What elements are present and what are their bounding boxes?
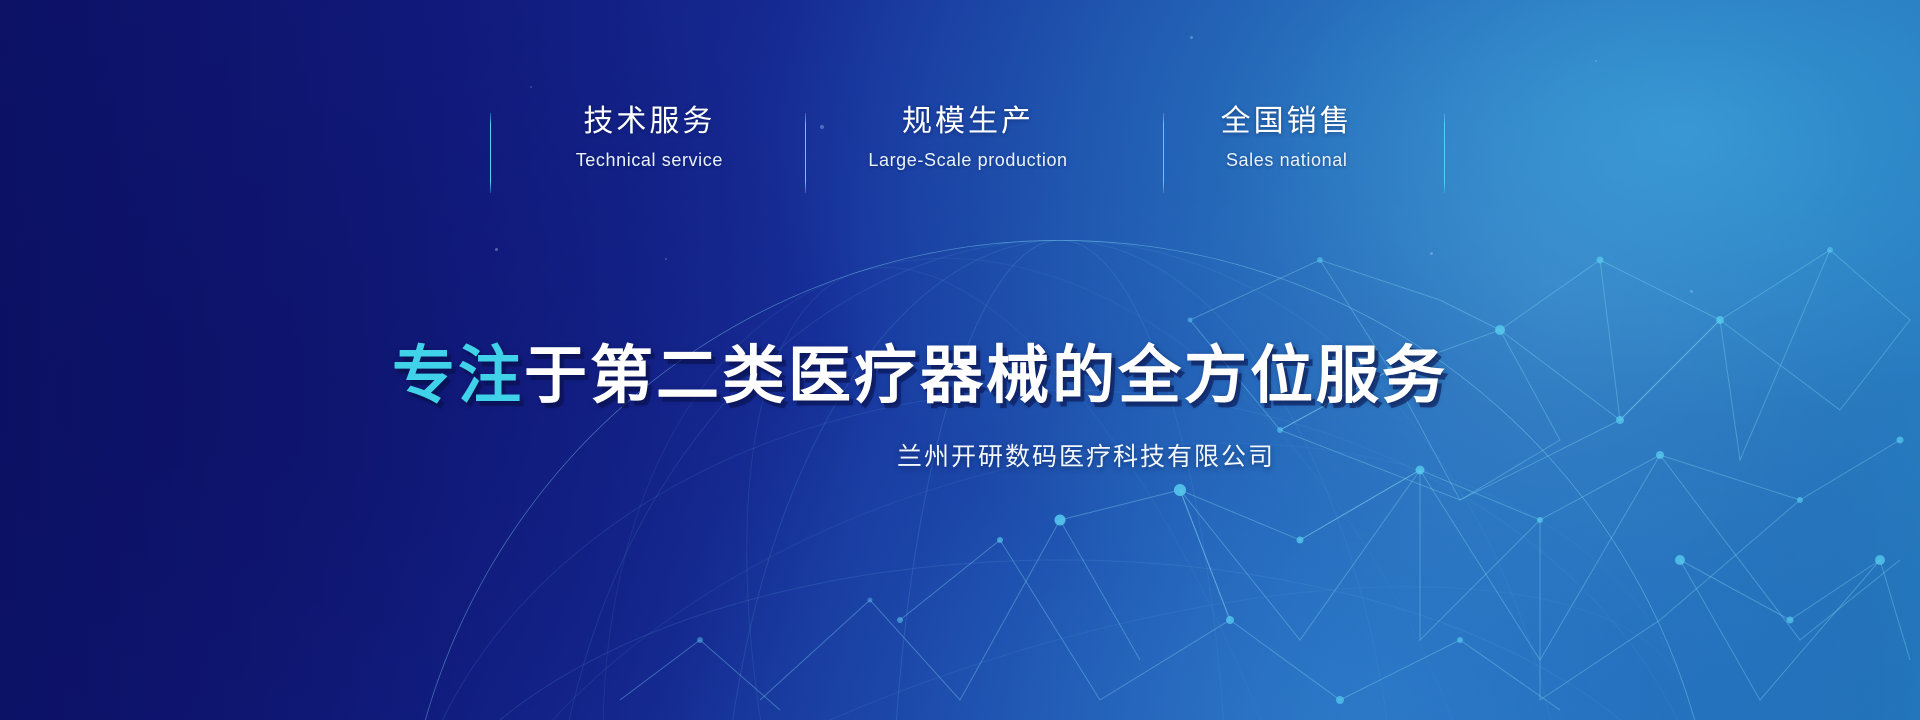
feature-title-cn: 全国销售 [1221,102,1353,142]
sparkle-dot [1190,36,1193,39]
sparkle-dot [1595,60,1597,62]
feature-title-en: Sales national [1226,149,1347,171]
feature-title-en: Large-Scale production [868,149,1067,171]
headline-accent-text: 专注 [392,340,524,412]
feature-divider [1163,113,1164,193]
sparkle-dot [665,258,667,260]
sparkle-dot [495,248,498,251]
feature-item-large-scale-production: 规模生产 Large-Scale production [809,100,1128,200]
headline-main-text: 于第二类医疗器械的全方位服务 [524,340,1448,412]
sparkle-dot [1690,290,1693,293]
hero-headline: 专注于第二类医疗器械的全方位服务 [0,340,1920,412]
company-name: 兰州开研数码医疗科技有限公司 [897,440,1275,474]
feature-divider [805,113,806,193]
sparkle-dot [1430,252,1433,255]
feature-strip: 技术服务 Technical service 规模生产 Large-Scale … [490,100,1446,200]
feature-item-technical-service: 技术服务 Technical service [490,100,809,200]
feature-divider [1444,113,1445,193]
hero-banner: 技术服务 Technical service 规模生产 Large-Scale … [0,0,1920,720]
hero-subtitle: 兰州开研数码医疗科技有限公司 [0,440,1920,474]
feature-item-sales-national: 全国销售 Sales national [1127,100,1446,200]
feature-title-cn: 规模生产 [902,102,1034,142]
feature-title-en: Technical service [576,149,723,171]
sparkle-dot [530,86,532,88]
feature-title-cn: 技术服务 [583,102,715,142]
feature-divider [490,113,491,193]
